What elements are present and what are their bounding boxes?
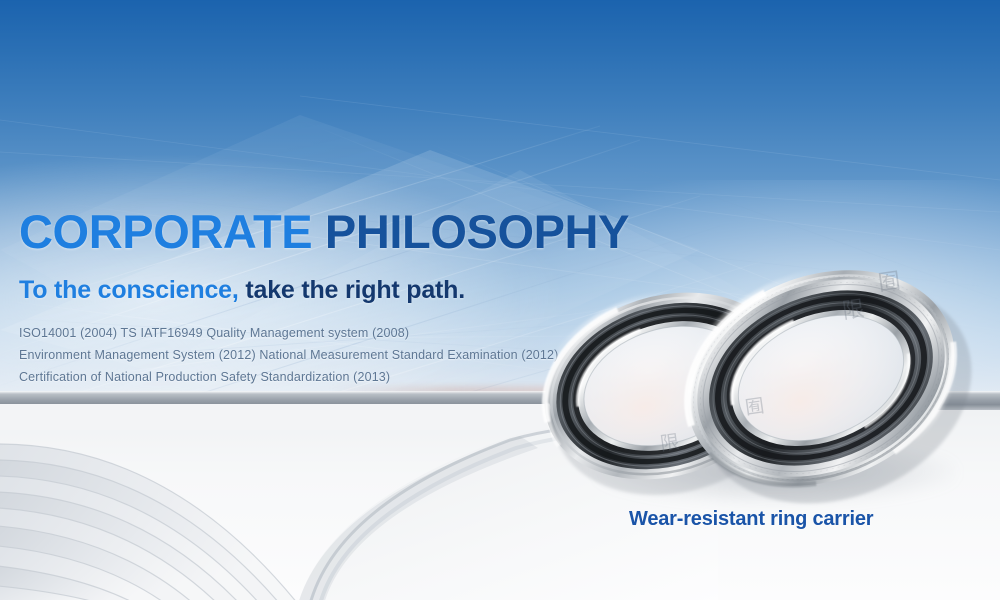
headline-word-corporate: CORPORATE <box>19 205 312 258</box>
subtitle-part-one: To the conscience, <box>19 276 239 304</box>
product-caption: Wear-resistant ring carrier <box>629 506 873 532</box>
corporate-philosophy-banner: CORPORATE PHILOSOPHY To the conscience, … <box>0 0 1000 600</box>
subtitle-part-two: take the right path. <box>245 276 465 304</box>
product-image-wear-resistant-rings <box>533 236 1000 526</box>
